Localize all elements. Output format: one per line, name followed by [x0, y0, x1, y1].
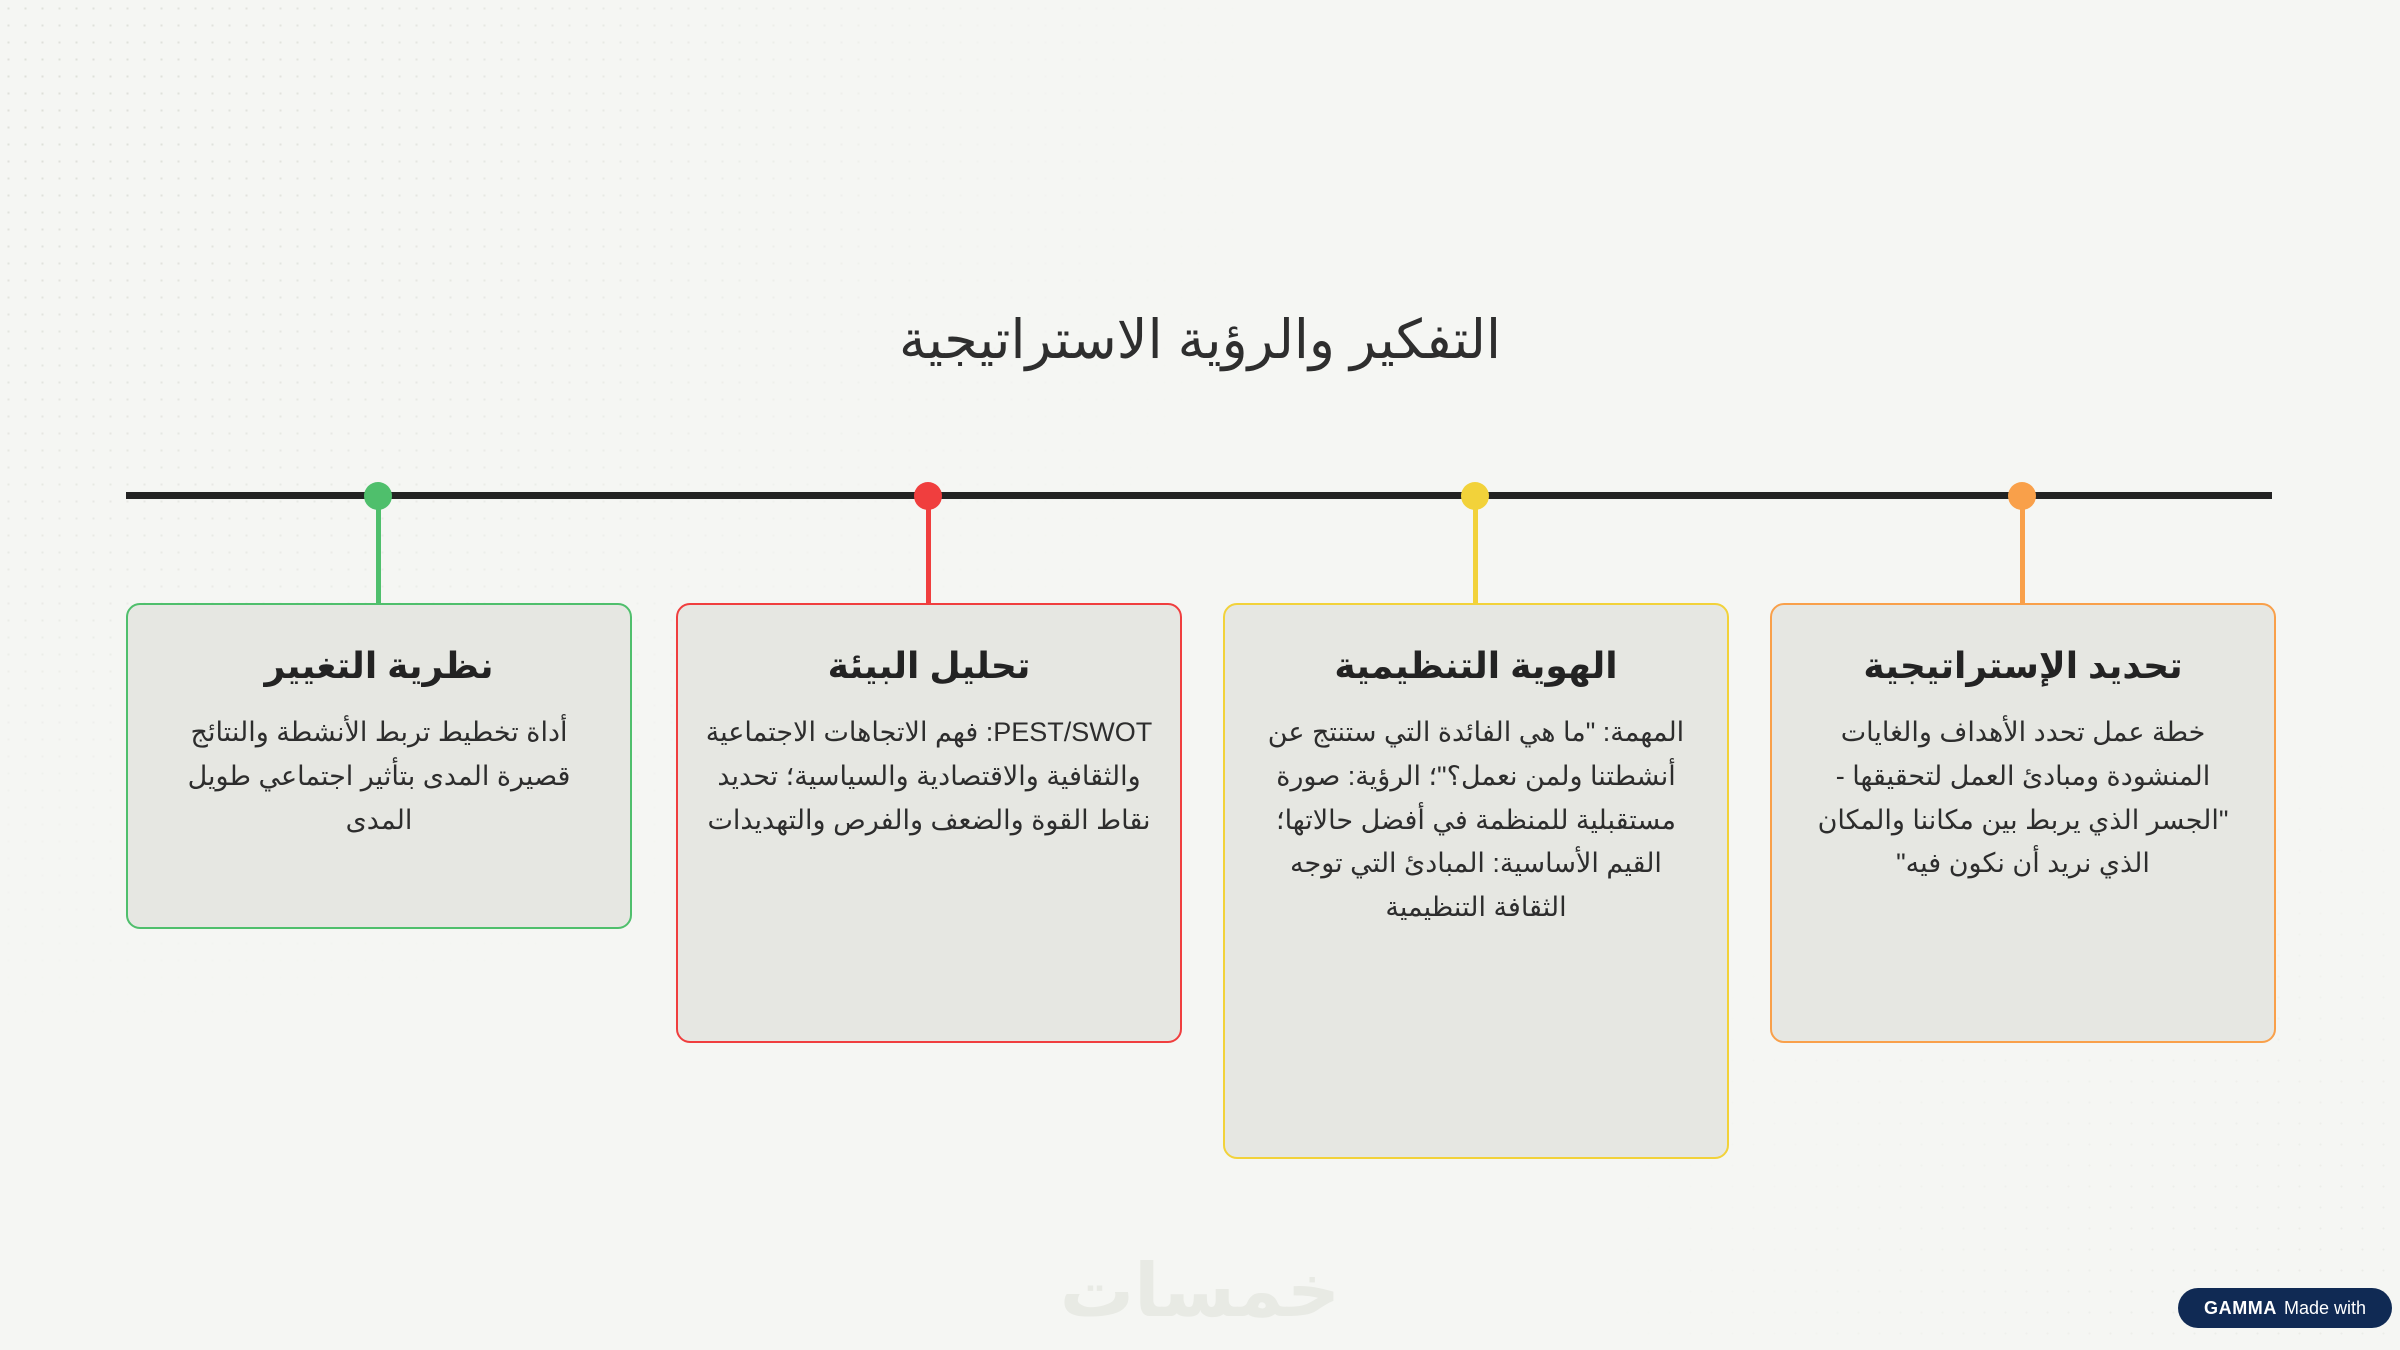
timeline-card-title: نظرية التغيير: [154, 643, 604, 689]
timeline-card-title: تحديد الإستراتيجية: [1798, 643, 2248, 689]
timeline-card-body: PEST/SWOT: فهم الاتجاهات الاجتماعية والث…: [704, 711, 1154, 842]
made-with-gamma-badge[interactable]: Made with GAMMA: [2178, 1288, 2392, 1328]
timeline-card-title: الهوية التنظيمية: [1251, 643, 1701, 689]
timeline-card-body: خطة عمل تحدد الأهداف والغايات المنشودة و…: [1798, 711, 2248, 886]
timeline-card-body: أداة تخطيط تربط الأنشطة والنتائج قصيرة ا…: [154, 711, 604, 842]
timeline-connector-3: [1473, 496, 1478, 603]
timeline-connector-2: [926, 496, 931, 603]
page-title: التفكير والرؤية الاستراتيجية: [0, 308, 2400, 373]
timeline-card-1[interactable]: نظرية التغيير أداة تخطيط تربط الأنشطة وا…: [126, 603, 632, 929]
timeline-card-title: تحليل البيئة: [704, 643, 1154, 689]
timeline-card-4[interactable]: تحديد الإستراتيجية خطة عمل تحدد الأهداف …: [1770, 603, 2276, 1043]
timeline-connector-1: [376, 496, 381, 603]
timeline-card-body: المهمة: "ما هي الفائدة التي ستنتج عن أنش…: [1251, 711, 1701, 930]
khamsat-watermark: خمسات: [0, 1248, 2400, 1334]
timeline-connector-4: [2020, 496, 2025, 603]
made-with-label: Made with: [2284, 1298, 2366, 1319]
timeline-axis: [126, 492, 2272, 499]
timeline-card-2[interactable]: تحليل البيئة PEST/SWOT: فهم الاتجاهات ال…: [676, 603, 1182, 1043]
timeline-card-3[interactable]: الهوية التنظيمية المهمة: "ما هي الفائدة …: [1223, 603, 1729, 1159]
gamma-brand-label: GAMMA: [2204, 1298, 2277, 1319]
